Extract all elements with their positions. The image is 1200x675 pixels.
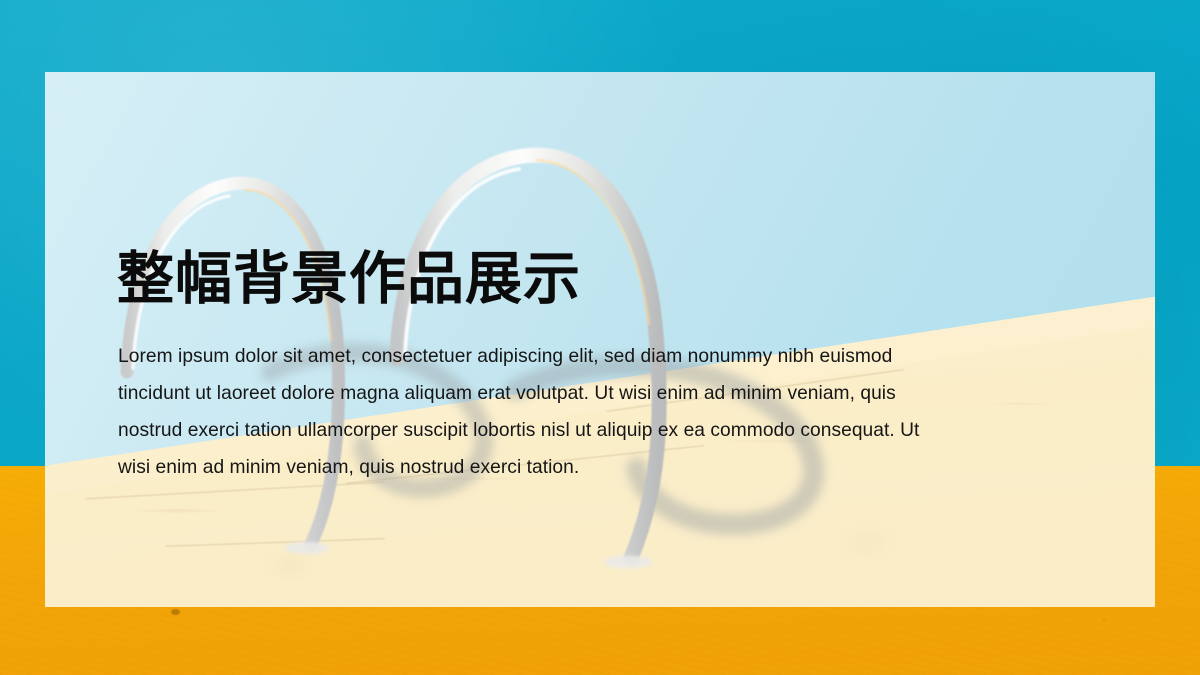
photo-card: 整幅背景作品展示 Lorem ipsum dolor sit amet, con…: [45, 72, 1155, 607]
slide-canvas: 整幅背景作品展示 Lorem ipsum dolor sit amet, con…: [0, 0, 1200, 675]
body-paragraph: Lorem ipsum dolor sit amet, consectetuer…: [118, 338, 940, 486]
page-title: 整幅背景作品展示: [117, 248, 581, 312]
gold-speck: [171, 609, 180, 615]
